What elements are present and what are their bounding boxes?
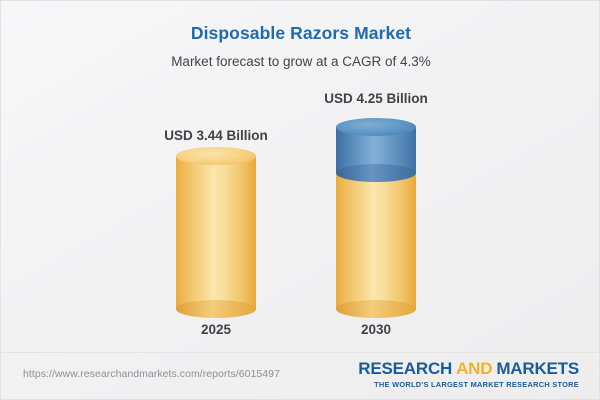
bar-segment-base-2030 xyxy=(336,173,416,309)
logo-word-markets: MARKETS xyxy=(496,359,579,378)
segment-top-ellipse xyxy=(176,147,256,165)
bar-value-label-2030: USD 4.25 Billion xyxy=(296,91,456,106)
segment-body xyxy=(336,173,416,309)
segment-bottom-ellipse xyxy=(176,300,256,318)
bar-cylinder-2025[interactable] xyxy=(176,156,256,309)
segment-bottom-ellipse xyxy=(336,164,416,182)
bar-group-2030: USD 4.25 Billion 2030 xyxy=(296,87,456,337)
segment-top-ellipse xyxy=(336,118,416,136)
logo-word-research: RESEARCH xyxy=(358,359,452,378)
category-label-2025: 2025 xyxy=(136,322,296,337)
chart-subtitle: Market forecast to grow at a CAGR of 4.3… xyxy=(1,44,600,69)
chart-header: Disposable Razors Market Market forecast… xyxy=(1,1,600,69)
logo-word-and: AND xyxy=(456,359,492,378)
bar-segment-base-2025 xyxy=(176,156,256,309)
brand-logo[interactable]: RESEARCHANDMARKETS THE WORLD'S LARGEST M… xyxy=(358,360,579,389)
bar-group-2025: USD 3.44 Billion 2025 xyxy=(136,87,296,337)
page-title: Disposable Razors Market xyxy=(1,1,600,44)
category-label-2030: 2030 xyxy=(296,322,456,337)
segment-body xyxy=(176,156,256,309)
logo-wordmark: RESEARCHANDMARKETS xyxy=(358,360,579,377)
infographic-canvas: Disposable Razors Market Market forecast… xyxy=(0,0,600,400)
logo-tagline: THE WORLD'S LARGEST MARKET RESEARCH STOR… xyxy=(358,380,579,389)
source-url-link[interactable]: https://www.researchandmarkets.com/repor… xyxy=(23,368,280,380)
segment-bottom-ellipse xyxy=(336,300,416,318)
bar-value-label-2025: USD 3.44 Billion xyxy=(136,128,296,143)
bar-segment-growth-2030 xyxy=(336,127,416,173)
chart-plot-area: USD 3.44 Billion 2025 USD 4.25 Billion xyxy=(1,87,600,337)
footer-divider xyxy=(1,352,600,353)
bar-cylinder-2030[interactable] xyxy=(336,127,416,309)
